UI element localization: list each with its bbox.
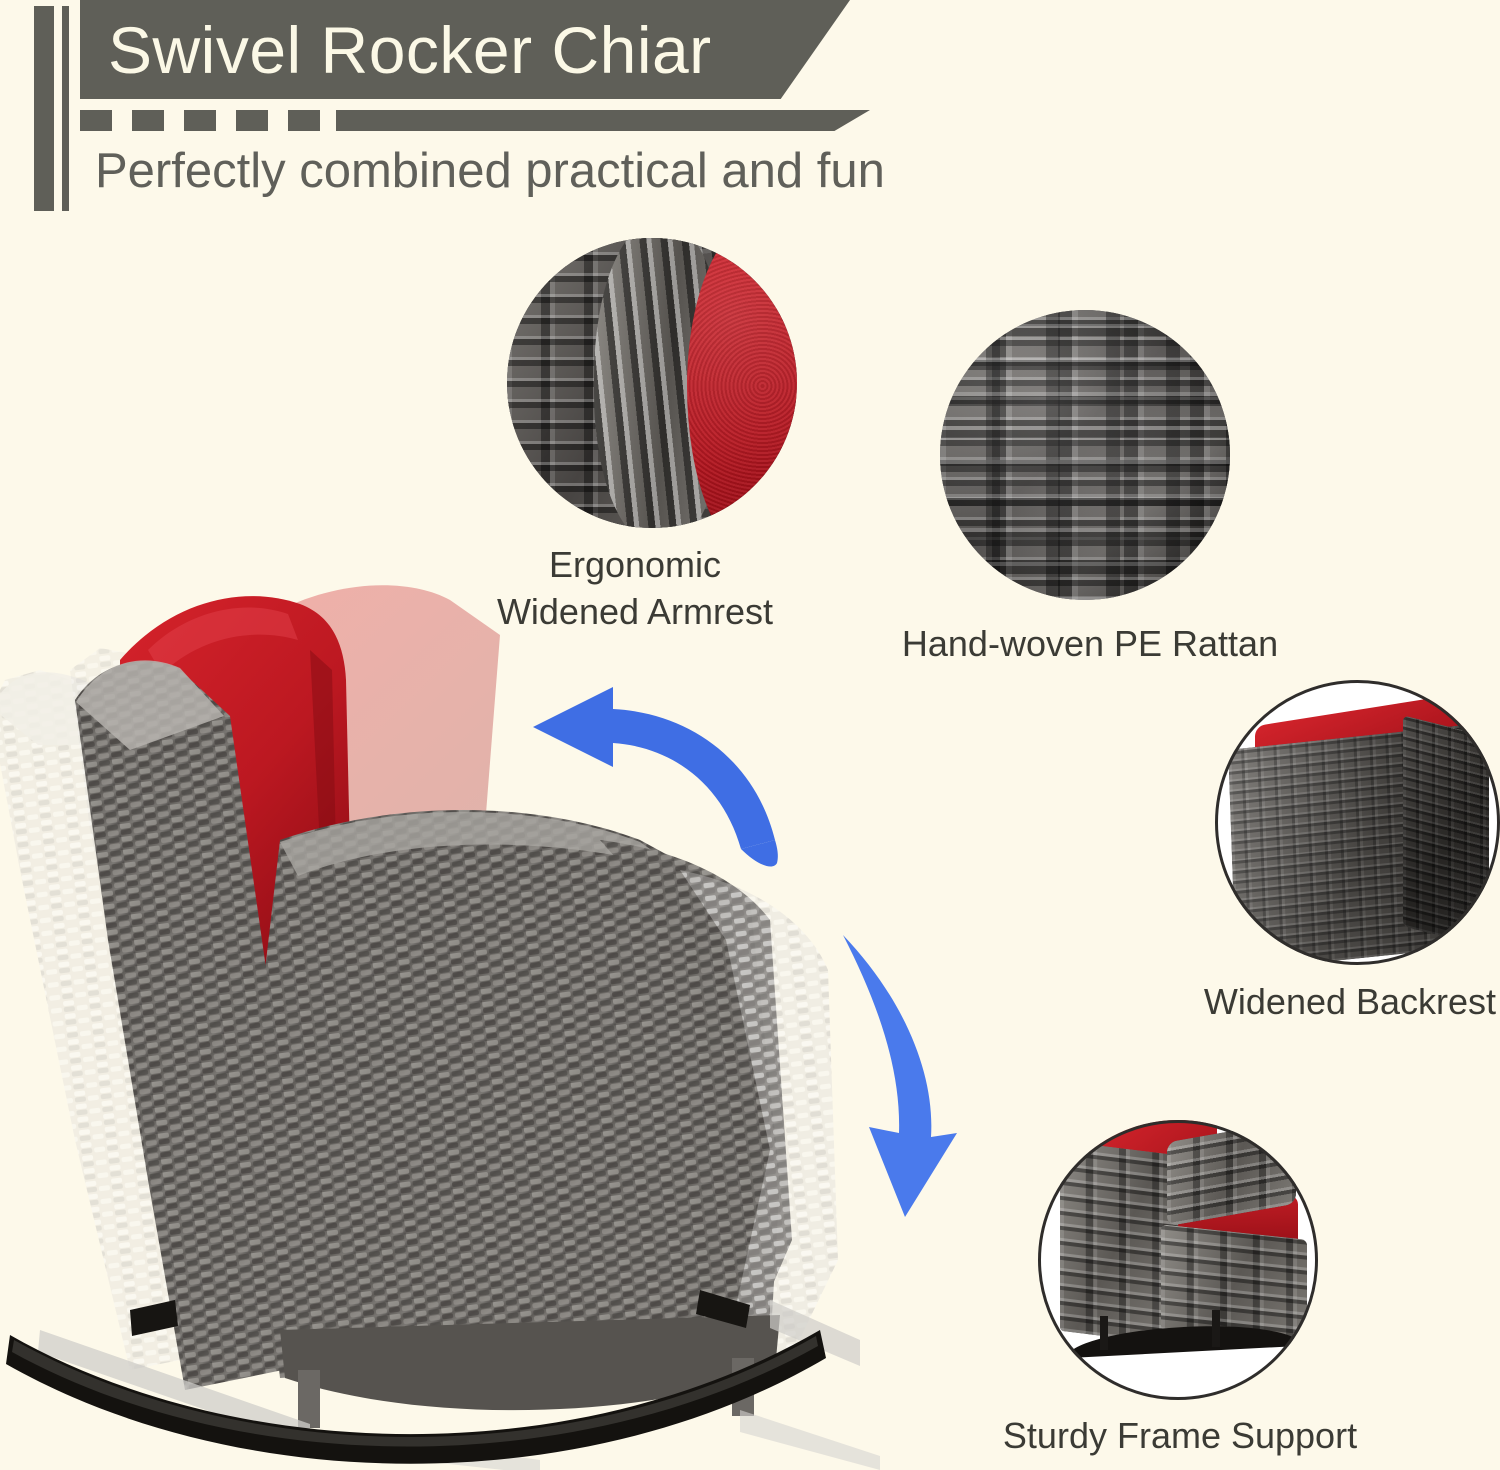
page-subtitle: Perfectly combined practical and fun [95, 143, 885, 199]
page-title: Swivel Rocker Chiar [108, 6, 712, 94]
header-accent-bar-thin [62, 6, 69, 211]
armrest-red-cushion [687, 238, 797, 528]
rock-back-arrow [505, 665, 835, 885]
backrest-photo-circle [1215, 680, 1500, 965]
callout-widened-backrest: Widened Backrest [1195, 680, 1500, 1040]
divider-solid-segment [362, 110, 870, 131]
header-accent-bar-thick [34, 6, 54, 211]
callout-hand-woven-pe-rattan: Hand-woven PE Rattan [920, 310, 1320, 700]
backrest-side-panel [1403, 715, 1489, 947]
marketing-image-canvas: Swivel Rocker Chiar Perfectly combined p… [0, 0, 1500, 1470]
frame-photo-circle [1038, 1120, 1318, 1400]
hero-chair-leg-left [298, 1370, 320, 1428]
frame-leg-right [1212, 1310, 1220, 1346]
caption-hand-woven-pe-rattan: Hand-woven PE Rattan [860, 620, 1320, 667]
rattan-photo-circle [940, 310, 1230, 600]
frame-leg-left [1100, 1316, 1108, 1350]
callout-ergonomic-widened-armrest: Ergonomic Widened Armrest [485, 238, 785, 658]
caption-ergonomic-widened-armrest: Ergonomic Widened Armrest [485, 541, 785, 635]
caption-sturdy-frame-support: Sturdy Frame Support [930, 1412, 1430, 1459]
armrest-photo-circle [507, 238, 797, 528]
rocker-ghost-d [740, 1410, 880, 1470]
rock-forward-arrow [795, 905, 995, 1235]
caption-widened-backrest: Widened Backrest [1120, 978, 1500, 1025]
callout-sturdy-frame-support: Sturdy Frame Support [1020, 1120, 1420, 1470]
dashed-divider [80, 110, 870, 131]
